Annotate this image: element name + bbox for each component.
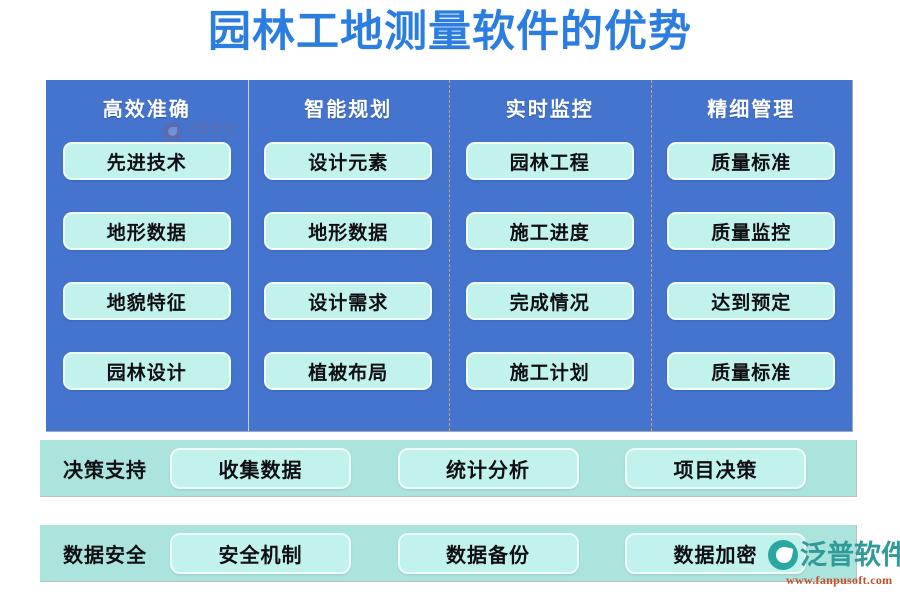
bar-item[interactable]: 项目决策 — [625, 448, 806, 489]
panel-item[interactable]: 设计需求 — [264, 282, 432, 320]
panel-column-1: 高效准确 先进技术 地形数据 地貌特征 园林设计 — [46, 80, 248, 431]
panel-item[interactable]: 施工进度 — [466, 212, 634, 250]
panel-item[interactable]: 植被布局 — [264, 352, 432, 390]
bar-item[interactable]: 统计分析 — [398, 448, 579, 489]
column-header-2: 智能规划 — [304, 96, 392, 124]
panel-item[interactable]: 先进技术 — [63, 142, 231, 180]
bar-item[interactable]: 数据加密 — [625, 533, 806, 574]
panel-item[interactable]: 质量监控 — [667, 212, 835, 250]
panel-item[interactable]: 园林工程 — [466, 142, 634, 180]
bottom-bar-data-security: 数据安全 安全机制 数据备份 数据加密 — [40, 525, 857, 582]
bar-label: 决策支持 — [40, 454, 170, 483]
bar-item[interactable]: 收集数据 — [170, 448, 351, 489]
panel-item[interactable]: 达到预定 — [667, 282, 835, 320]
panel-item[interactable]: 地形数据 — [63, 212, 231, 250]
advantages-panel: 高效准确 先进技术 地形数据 地貌特征 园林设计 智能规划 设计元素 地形数据 … — [46, 80, 853, 432]
panel-item[interactable]: 质量标准 — [667, 352, 835, 390]
panel-column-2: 智能规划 设计元素 地形数据 设计需求 植被布局 — [248, 80, 450, 431]
bar-items: 收集数据 统计分析 项目决策 — [170, 448, 856, 489]
bar-item[interactable]: 安全机制 — [170, 533, 351, 574]
panel-item[interactable]: 地貌特征 — [63, 282, 231, 320]
panel-item[interactable]: 地形数据 — [264, 212, 432, 250]
bottom-bar-decision-support: 决策支持 收集数据 统计分析 项目决策 — [40, 440, 857, 497]
panel-item[interactable]: 施工计划 — [466, 352, 634, 390]
page-title: 园林工地测量软件的优势 — [0, 2, 900, 64]
bar-items: 安全机制 数据备份 数据加密 — [170, 533, 856, 574]
column-header-3: 实时监控 — [506, 96, 594, 124]
panel-column-4: 精细管理 质量标准 质量监控 达到预定 质量标准 — [651, 80, 853, 431]
panel-column-3: 实时监控 园林工程 施工进度 完成情况 施工计划 — [449, 80, 651, 431]
column-header-1: 高效准确 — [103, 96, 191, 124]
panel-item[interactable]: 园林设计 — [63, 352, 231, 390]
panel-item[interactable]: 质量标准 — [667, 142, 835, 180]
bar-label: 数据安全 — [40, 539, 170, 568]
panel-item[interactable]: 设计元素 — [264, 142, 432, 180]
bar-item[interactable]: 数据备份 — [398, 533, 579, 574]
column-header-4: 精细管理 — [707, 96, 795, 124]
panel-item[interactable]: 完成情况 — [466, 282, 634, 320]
